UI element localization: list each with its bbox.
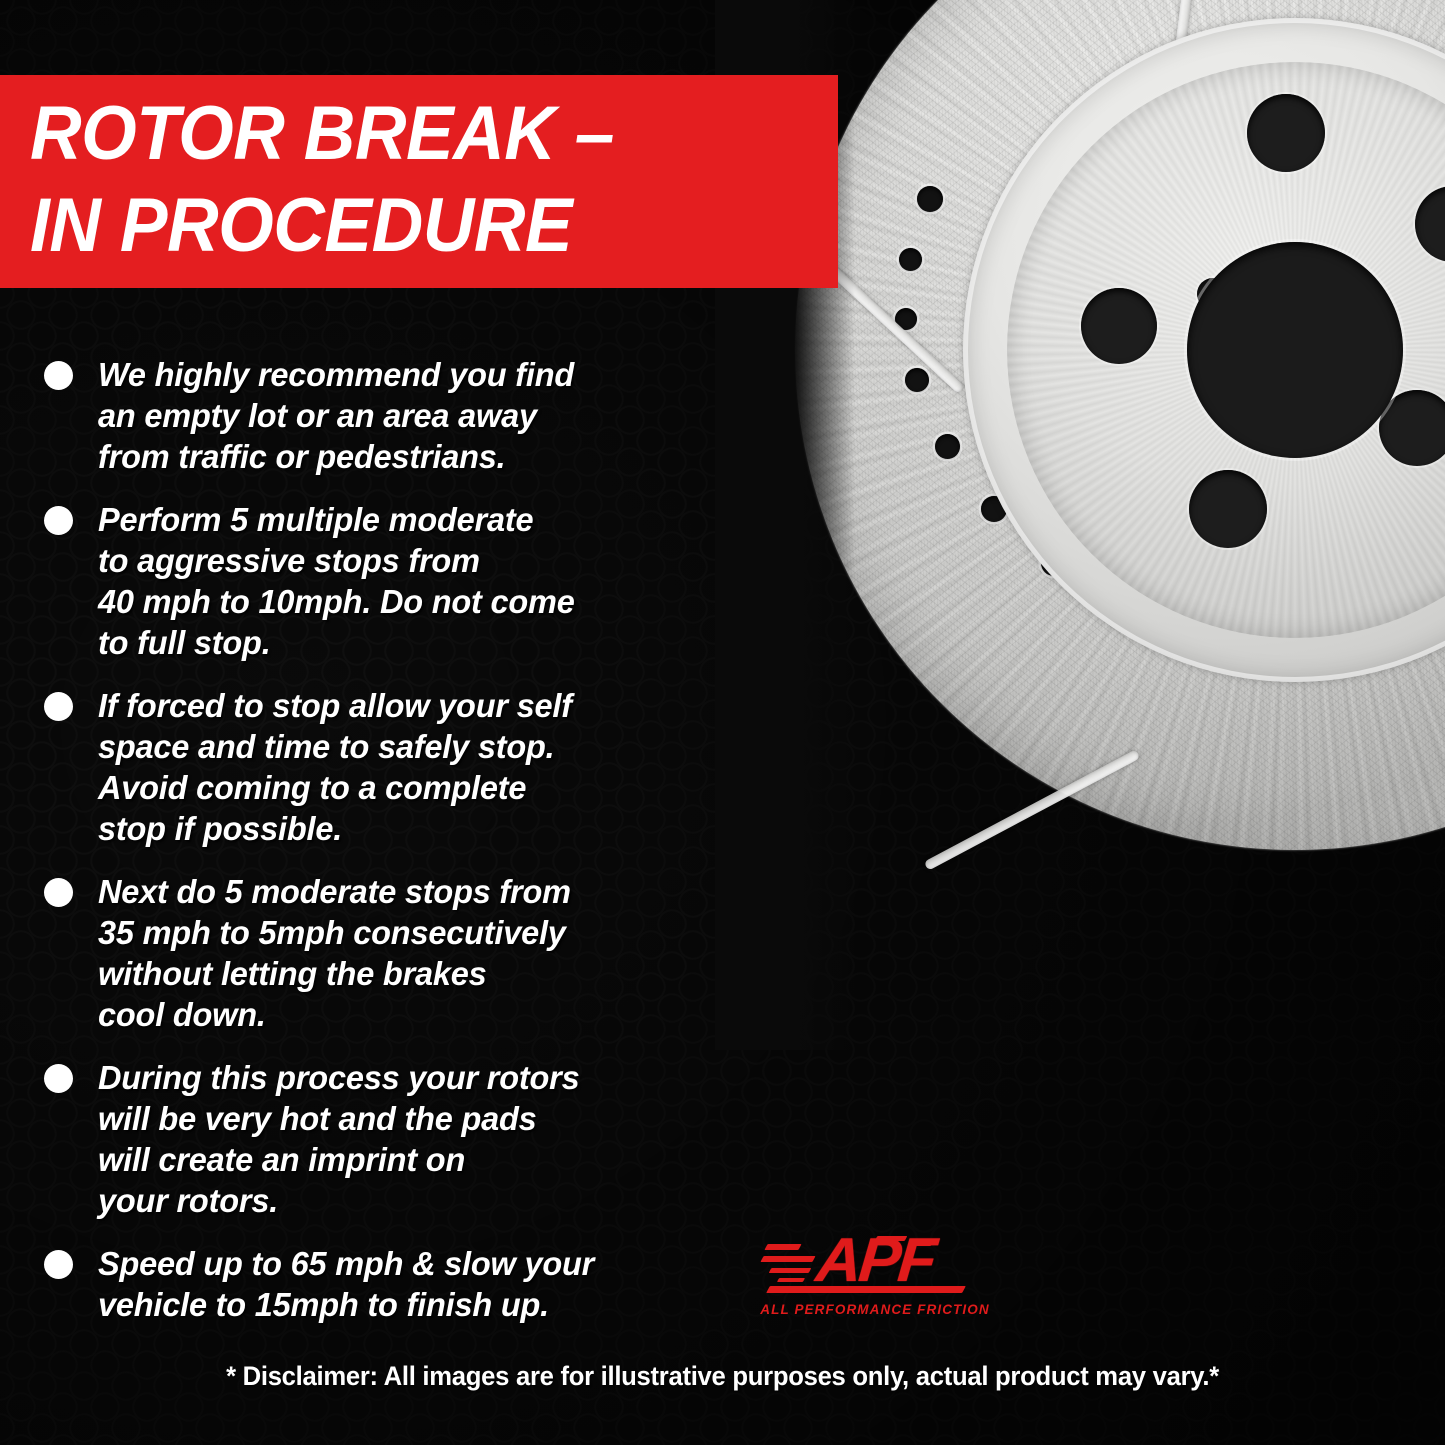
apf-logo-underbar bbox=[766, 1286, 966, 1293]
bullet-dot-icon bbox=[44, 506, 73, 535]
list-item: Perform 5 multiple moderate to aggressiv… bbox=[44, 500, 764, 664]
list-item: If forced to stop allow your self space … bbox=[44, 686, 764, 850]
list-item: Speed up to 65 mph & slow your vehicle t… bbox=[44, 1244, 764, 1326]
apf-logo-mark: APF bbox=[760, 1228, 990, 1300]
list-item-text: We highly recommend you find an empty lo… bbox=[98, 355, 574, 478]
procedure-step-list: We highly recommend you find an empty lo… bbox=[44, 355, 764, 1348]
bullet-dot-icon bbox=[44, 1250, 73, 1279]
apf-logo-tagline: ALL PERFORMANCE FRICTION bbox=[760, 1302, 990, 1317]
page-title-line-2: IN PROCEDURE bbox=[30, 180, 790, 272]
list-item: During this process your rotors will be … bbox=[44, 1058, 764, 1222]
disclaimer-text: * Disclaimer: All images are for illustr… bbox=[36, 1361, 1409, 1392]
list-item: Next do 5 moderate stops from 35 mph to … bbox=[44, 872, 764, 1036]
list-item: We highly recommend you find an empty lo… bbox=[44, 355, 764, 478]
list-item-text: Next do 5 moderate stops from 35 mph to … bbox=[98, 872, 571, 1036]
bullet-dot-icon bbox=[44, 361, 73, 390]
list-item-text: If forced to stop allow your self space … bbox=[98, 686, 572, 850]
poster-canvas: ROTOR BREAK – IN PROCEDURE We highly rec… bbox=[0, 0, 1445, 1445]
list-item-text: During this process your rotors will be … bbox=[98, 1058, 579, 1222]
title-banner: ROTOR BREAK – IN PROCEDURE bbox=[0, 75, 838, 288]
apf-logo-letters: APF bbox=[755, 1230, 995, 1292]
bullet-dot-icon bbox=[44, 692, 73, 721]
bullet-dot-icon bbox=[44, 878, 73, 907]
apf-brand-logo: APF ALL PERFORMANCE FRICTION bbox=[760, 1228, 990, 1328]
list-item-text: Perform 5 multiple moderate to aggressiv… bbox=[98, 500, 575, 664]
list-item-text: Speed up to 65 mph & slow your vehicle t… bbox=[98, 1244, 594, 1326]
page-title-line-1: ROTOR BREAK – bbox=[30, 88, 790, 180]
bullet-dot-icon bbox=[44, 1064, 73, 1093]
